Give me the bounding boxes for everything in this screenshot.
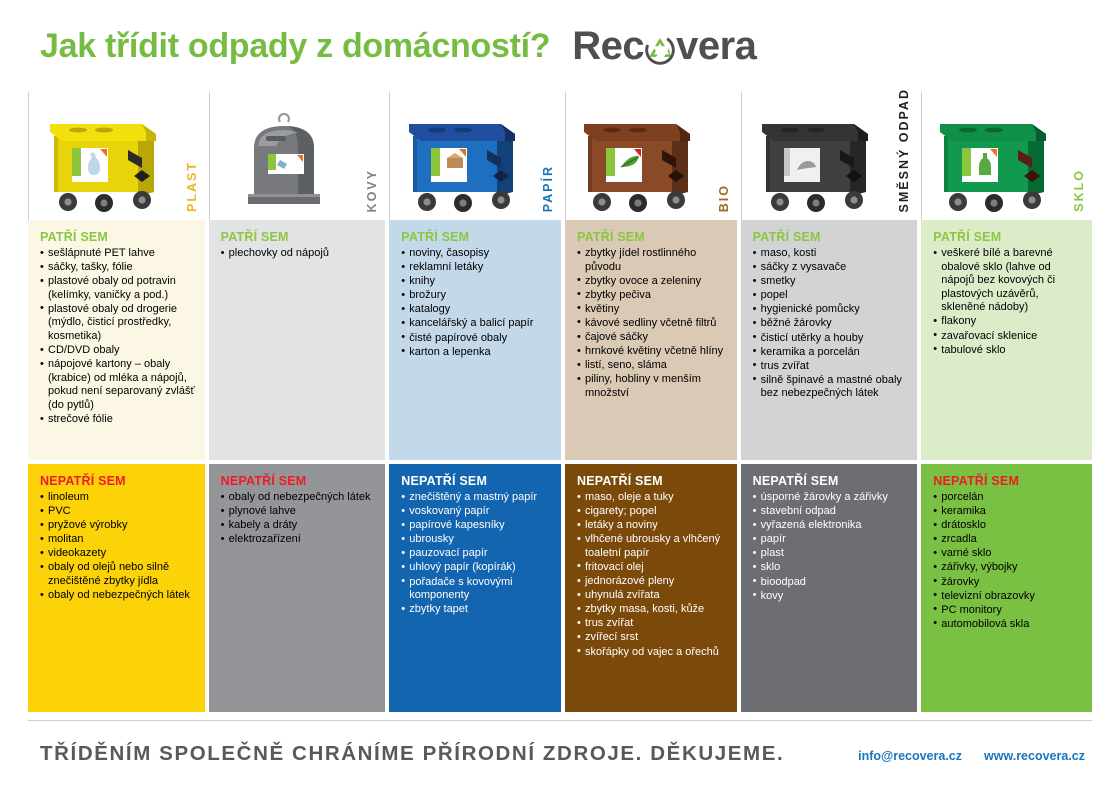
yes-panel-smesny: PATŘÍ SEM maso, kosti sáčky z vysavače s… [741, 220, 918, 460]
yes-list: maso, kosti sáčky z vysavače smetky pope… [753, 247, 908, 401]
list-item: pryžové výrobky [40, 519, 195, 533]
footer-slogan: TŘÍDĚNÍM SPOLEČNĚ CHRÁNÍME PŘÍRODNÍ ZDRO… [40, 742, 784, 766]
list-item: zářivky, výbojky [933, 561, 1082, 575]
list-item: automobilová skla [933, 618, 1082, 632]
list-item: CD/DVD obaly [40, 344, 195, 358]
list-item: tabulové sklo [933, 344, 1082, 358]
no-panel-sklo: NEPATŘÍ SEM porcelán keramika drátosklo … [921, 464, 1092, 712]
yes-list: zbytky jídel rostlinného původu zbytky o… [577, 247, 727, 401]
list-item: keramika a porcelán [753, 346, 908, 360]
list-item: zavařovací sklenice [933, 330, 1082, 344]
list-item: PC monitory [933, 604, 1082, 618]
no-title: NEPATŘÍ SEM [577, 474, 727, 488]
column-smesny-odpad: SMĚSNÝ ODPAD PATŘÍ SEM maso, kosti sáčky… [741, 92, 918, 712]
no-list: znečištěný a mastný papír voskovaný papí… [401, 491, 551, 617]
infographic-page: Jak třídit odpady z domácností? Rec vera [0, 0, 1118, 787]
list-item: jednorázové pleny [577, 575, 727, 589]
list-item: zbytky masa, kosti, kůže [577, 603, 727, 617]
list-item: noviny, časopisy [401, 247, 551, 261]
list-item: zrcadla [933, 533, 1082, 547]
list-item: zbytky pečiva [577, 289, 727, 303]
list-item: listí, seno, sláma [577, 359, 727, 373]
no-title: NEPATŘÍ SEM [933, 474, 1082, 488]
category-label-sklo: SKLO [1066, 92, 1092, 220]
category-label-kovy: KOVY [359, 92, 385, 220]
list-item: obaly od olejů nebo silně znečištěné zby… [40, 561, 195, 588]
logo-text-after: vera [676, 24, 756, 69]
list-item: úsporné žárovky a zářivky [753, 491, 908, 505]
list-item: skořápky od vajec a ořechů [577, 646, 727, 660]
list-item: linoleum [40, 491, 195, 505]
logo-text-before: Rec [572, 24, 644, 69]
list-item: sáčky, tašky, fólie [40, 261, 195, 275]
footer-contacts: info@recovera.cz www.recovera.cz [858, 749, 1085, 763]
list-item: květiny [577, 303, 727, 317]
list-item: kávové sedliny včetně filtrů [577, 317, 727, 331]
list-item: molitan [40, 533, 195, 547]
page-title: Jak třídit odpady z domácností? [40, 27, 550, 66]
yes-title: PATŘÍ SEM [933, 230, 1082, 244]
bin-image-kovy [210, 92, 360, 220]
yellow-wheeled-bin-icon [38, 110, 170, 214]
grey-dome-container-icon [224, 110, 344, 214]
contact-website[interactable]: www.recovera.cz [984, 749, 1085, 763]
list-item: trus zvířat [753, 360, 908, 374]
list-item: trus zvířat [577, 617, 727, 631]
list-item: papír [753, 533, 908, 547]
list-item: plastové obaly od potravin (kelímky, van… [40, 275, 195, 302]
list-item: popel [753, 289, 908, 303]
list-item: hygienické pomůcky [753, 303, 908, 317]
list-item: sklo [753, 561, 908, 575]
no-panel-kovy: NEPATŘÍ SEM obaly od nebezpečných látek … [209, 464, 386, 712]
waste-category-columns: PLAST PATŘÍ SEM sešlápnuté PET lahve sáč… [28, 92, 1092, 712]
yes-title: PATŘÍ SEM [753, 230, 908, 244]
no-panel-smesny: NEPATŘÍ SEM úsporné žárovky a zářivky st… [741, 464, 918, 712]
category-label-smesny: SMĚSNÝ ODPAD [891, 92, 917, 220]
list-item: voskovaný papír [401, 505, 551, 519]
column-sklo: SKLO PATŘÍ SEM veškeré bílé a barevné ob… [921, 92, 1092, 712]
list-item: zbytky tapet [401, 603, 551, 617]
bin-photo-kovy: KOVY [209, 92, 386, 220]
list-item: letáky a noviny [577, 519, 727, 533]
list-item: piliny, hobliny v menším množství [577, 373, 727, 400]
list-item: vyřazená elektronika [753, 519, 908, 533]
list-item: reklamní letáky [401, 261, 551, 275]
contact-email[interactable]: info@recovera.cz [858, 749, 962, 763]
list-item: keramika [933, 505, 1082, 519]
list-item: obaly od nebezpečných látek [221, 491, 376, 505]
bin-photo-sklo: SKLO [921, 92, 1092, 220]
list-item: obaly od nebezpečných látek [40, 589, 195, 603]
no-title: NEPATŘÍ SEM [40, 474, 195, 488]
column-papir: PAPÍR PATŘÍ SEM noviny, časopisy reklamn… [389, 92, 561, 712]
list-item: papírové kapesníky [401, 519, 551, 533]
column-plast: PLAST PATŘÍ SEM sešlápnuté PET lahve sáč… [28, 92, 205, 712]
bin-image-bio [566, 92, 711, 220]
list-item: silně špinavé a mastné obaly bez nebezpe… [753, 374, 908, 401]
page-footer: TŘÍDĚNÍM SPOLEČNĚ CHRÁNÍME PŘÍRODNÍ ZDRO… [0, 716, 1118, 787]
list-item: kancelářský a balicí papír [401, 317, 551, 331]
list-item: karton a lepenka [401, 346, 551, 360]
no-list: linoleum PVC pryžové výrobky molitan vid… [40, 491, 195, 603]
bin-image-papir [390, 92, 535, 220]
list-item: zbytky jídel rostlinného původu [577, 247, 727, 274]
list-item: knihy [401, 275, 551, 289]
no-panel-plast: NEPATŘÍ SEM linoleum PVC pryžové výrobky… [28, 464, 205, 712]
brown-wheeled-bin-icon [572, 110, 704, 214]
list-item: televizní obrazovky [933, 590, 1082, 604]
no-panel-bio: NEPATŘÍ SEM maso, oleje a tuky cigarety;… [565, 464, 737, 712]
no-list: obaly od nebezpečných látek plynové lahv… [221, 491, 376, 547]
category-label-plast: PLAST [179, 92, 205, 220]
no-list: porcelán keramika drátosklo zrcadla varn… [933, 491, 1082, 631]
yes-list: sešlápnuté PET lahve sáčky, tašky, fólie… [40, 247, 195, 427]
bin-photo-bio: BIO [565, 92, 737, 220]
list-item: PVC [40, 505, 195, 519]
no-list: maso, oleje a tuky cigarety; popel leták… [577, 491, 727, 659]
list-item: pořadače s kovovými komponenty [401, 576, 551, 603]
list-item: uhynulá zvířata [577, 589, 727, 603]
no-title: NEPATŘÍ SEM [753, 474, 908, 488]
yes-panel-bio: PATŘÍ SEM zbytky jídel rostlinného původ… [565, 220, 737, 460]
yes-panel-papir: PATŘÍ SEM noviny, časopisy reklamní letá… [389, 220, 561, 460]
list-item: znečištěný a mastný papír [401, 491, 551, 505]
no-title: NEPATŘÍ SEM [221, 474, 376, 488]
list-item: sešlápnuté PET lahve [40, 247, 195, 261]
list-item: čisté papírové obaly [401, 332, 551, 346]
list-item: veškeré bílé a barevné obalové sklo (lah… [933, 247, 1082, 315]
list-item: hrnkové květiny včetně hlíny [577, 345, 727, 359]
recovera-logo: Rec vera [572, 24, 756, 69]
list-item: plynové lahve [221, 505, 376, 519]
list-item: plastové obaly od drogerie (mýdlo, čisti… [40, 303, 195, 344]
bin-image-sklo [922, 92, 1066, 220]
yes-list: noviny, časopisy reklamní letáky knihy b… [401, 247, 551, 359]
bin-photo-papir: PAPÍR [389, 92, 561, 220]
no-list: úsporné žárovky a zářivky stavební odpad… [753, 491, 908, 603]
list-item: varné sklo [933, 547, 1082, 561]
list-item: katalogy [401, 303, 551, 317]
category-label-papir: PAPÍR [535, 92, 561, 220]
no-title: NEPATŘÍ SEM [401, 474, 551, 488]
column-bio: BIO PATŘÍ SEM zbytky jídel rostlinného p… [565, 92, 737, 712]
bin-image-smesny [742, 92, 892, 220]
list-item: fritovací olej [577, 561, 727, 575]
bin-photo-smesny: SMĚSNÝ ODPAD [741, 92, 918, 220]
footer-divider [28, 720, 1092, 721]
list-item: žárovky [933, 576, 1082, 590]
list-item: drátosklo [933, 519, 1082, 533]
list-item: pauzovací papír [401, 547, 551, 561]
list-item: čisticí utěrky a houby [753, 332, 908, 346]
list-item: čajové sáčky [577, 331, 727, 345]
list-item: brožury [401, 289, 551, 303]
yes-panel-plast: PATŘÍ SEM sešlápnuté PET lahve sáčky, ta… [28, 220, 205, 460]
list-item: flakony [933, 315, 1082, 329]
black-wheeled-bin-icon [750, 110, 882, 214]
no-panel-papir: NEPATŘÍ SEM znečištěný a mastný papír vo… [389, 464, 561, 712]
yes-list: plechovky od nápojů [221, 247, 376, 261]
category-label-bio: BIO [711, 92, 737, 220]
yes-list: veškeré bílé a barevné obalové sklo (lah… [933, 247, 1082, 357]
list-item: nápojové kartony – obaly (krabice) od ml… [40, 358, 195, 412]
yes-panel-kovy: PATŘÍ SEM plechovky od nápojů [209, 220, 386, 460]
list-item: kovy [753, 590, 908, 604]
list-item: maso, kosti [753, 247, 908, 261]
list-item: stavební odpad [753, 505, 908, 519]
bin-image-plast [29, 92, 179, 220]
column-kovy: KOVY PATŘÍ SEM plechovky od nápojů NEPAT… [209, 92, 386, 712]
recycle-icon [645, 35, 675, 65]
list-item: porcelán [933, 491, 1082, 505]
list-item: kabely a dráty [221, 519, 376, 533]
yes-title: PATŘÍ SEM [401, 230, 551, 244]
list-item: cigarety; popel [577, 505, 727, 519]
list-item: uhlový papír (kopírák) [401, 561, 551, 575]
list-item: běžné žárovky [753, 317, 908, 331]
yes-title: PATŘÍ SEM [221, 230, 376, 244]
yes-panel-sklo: PATŘÍ SEM veškeré bílé a barevné obalové… [921, 220, 1092, 460]
list-item: elektrozařízení [221, 533, 376, 547]
list-item: maso, oleje a tuky [577, 491, 727, 505]
list-item: sáčky z vysavače [753, 261, 908, 275]
list-item: plechovky od nápojů [221, 247, 376, 261]
blue-wheeled-bin-icon [397, 110, 529, 214]
list-item: zbytky ovoce a zeleniny [577, 275, 727, 289]
green-wheeled-bin-icon [928, 110, 1060, 214]
list-item: zvířecí srst [577, 631, 727, 645]
list-item: ubrousky [401, 533, 551, 547]
yes-title: PATŘÍ SEM [577, 230, 727, 244]
list-item: smetky [753, 275, 908, 289]
page-header: Jak třídit odpady z domácností? Rec vera [0, 0, 1118, 92]
list-item: strečové fólie [40, 413, 195, 427]
list-item: bioodpad [753, 576, 908, 590]
bin-photo-plast: PLAST [28, 92, 205, 220]
list-item: vlhčené ubrousky a vlhčený toaletní papí… [577, 533, 727, 560]
yes-title: PATŘÍ SEM [40, 230, 195, 244]
list-item: plast [753, 547, 908, 561]
list-item: videokazety [40, 547, 195, 561]
